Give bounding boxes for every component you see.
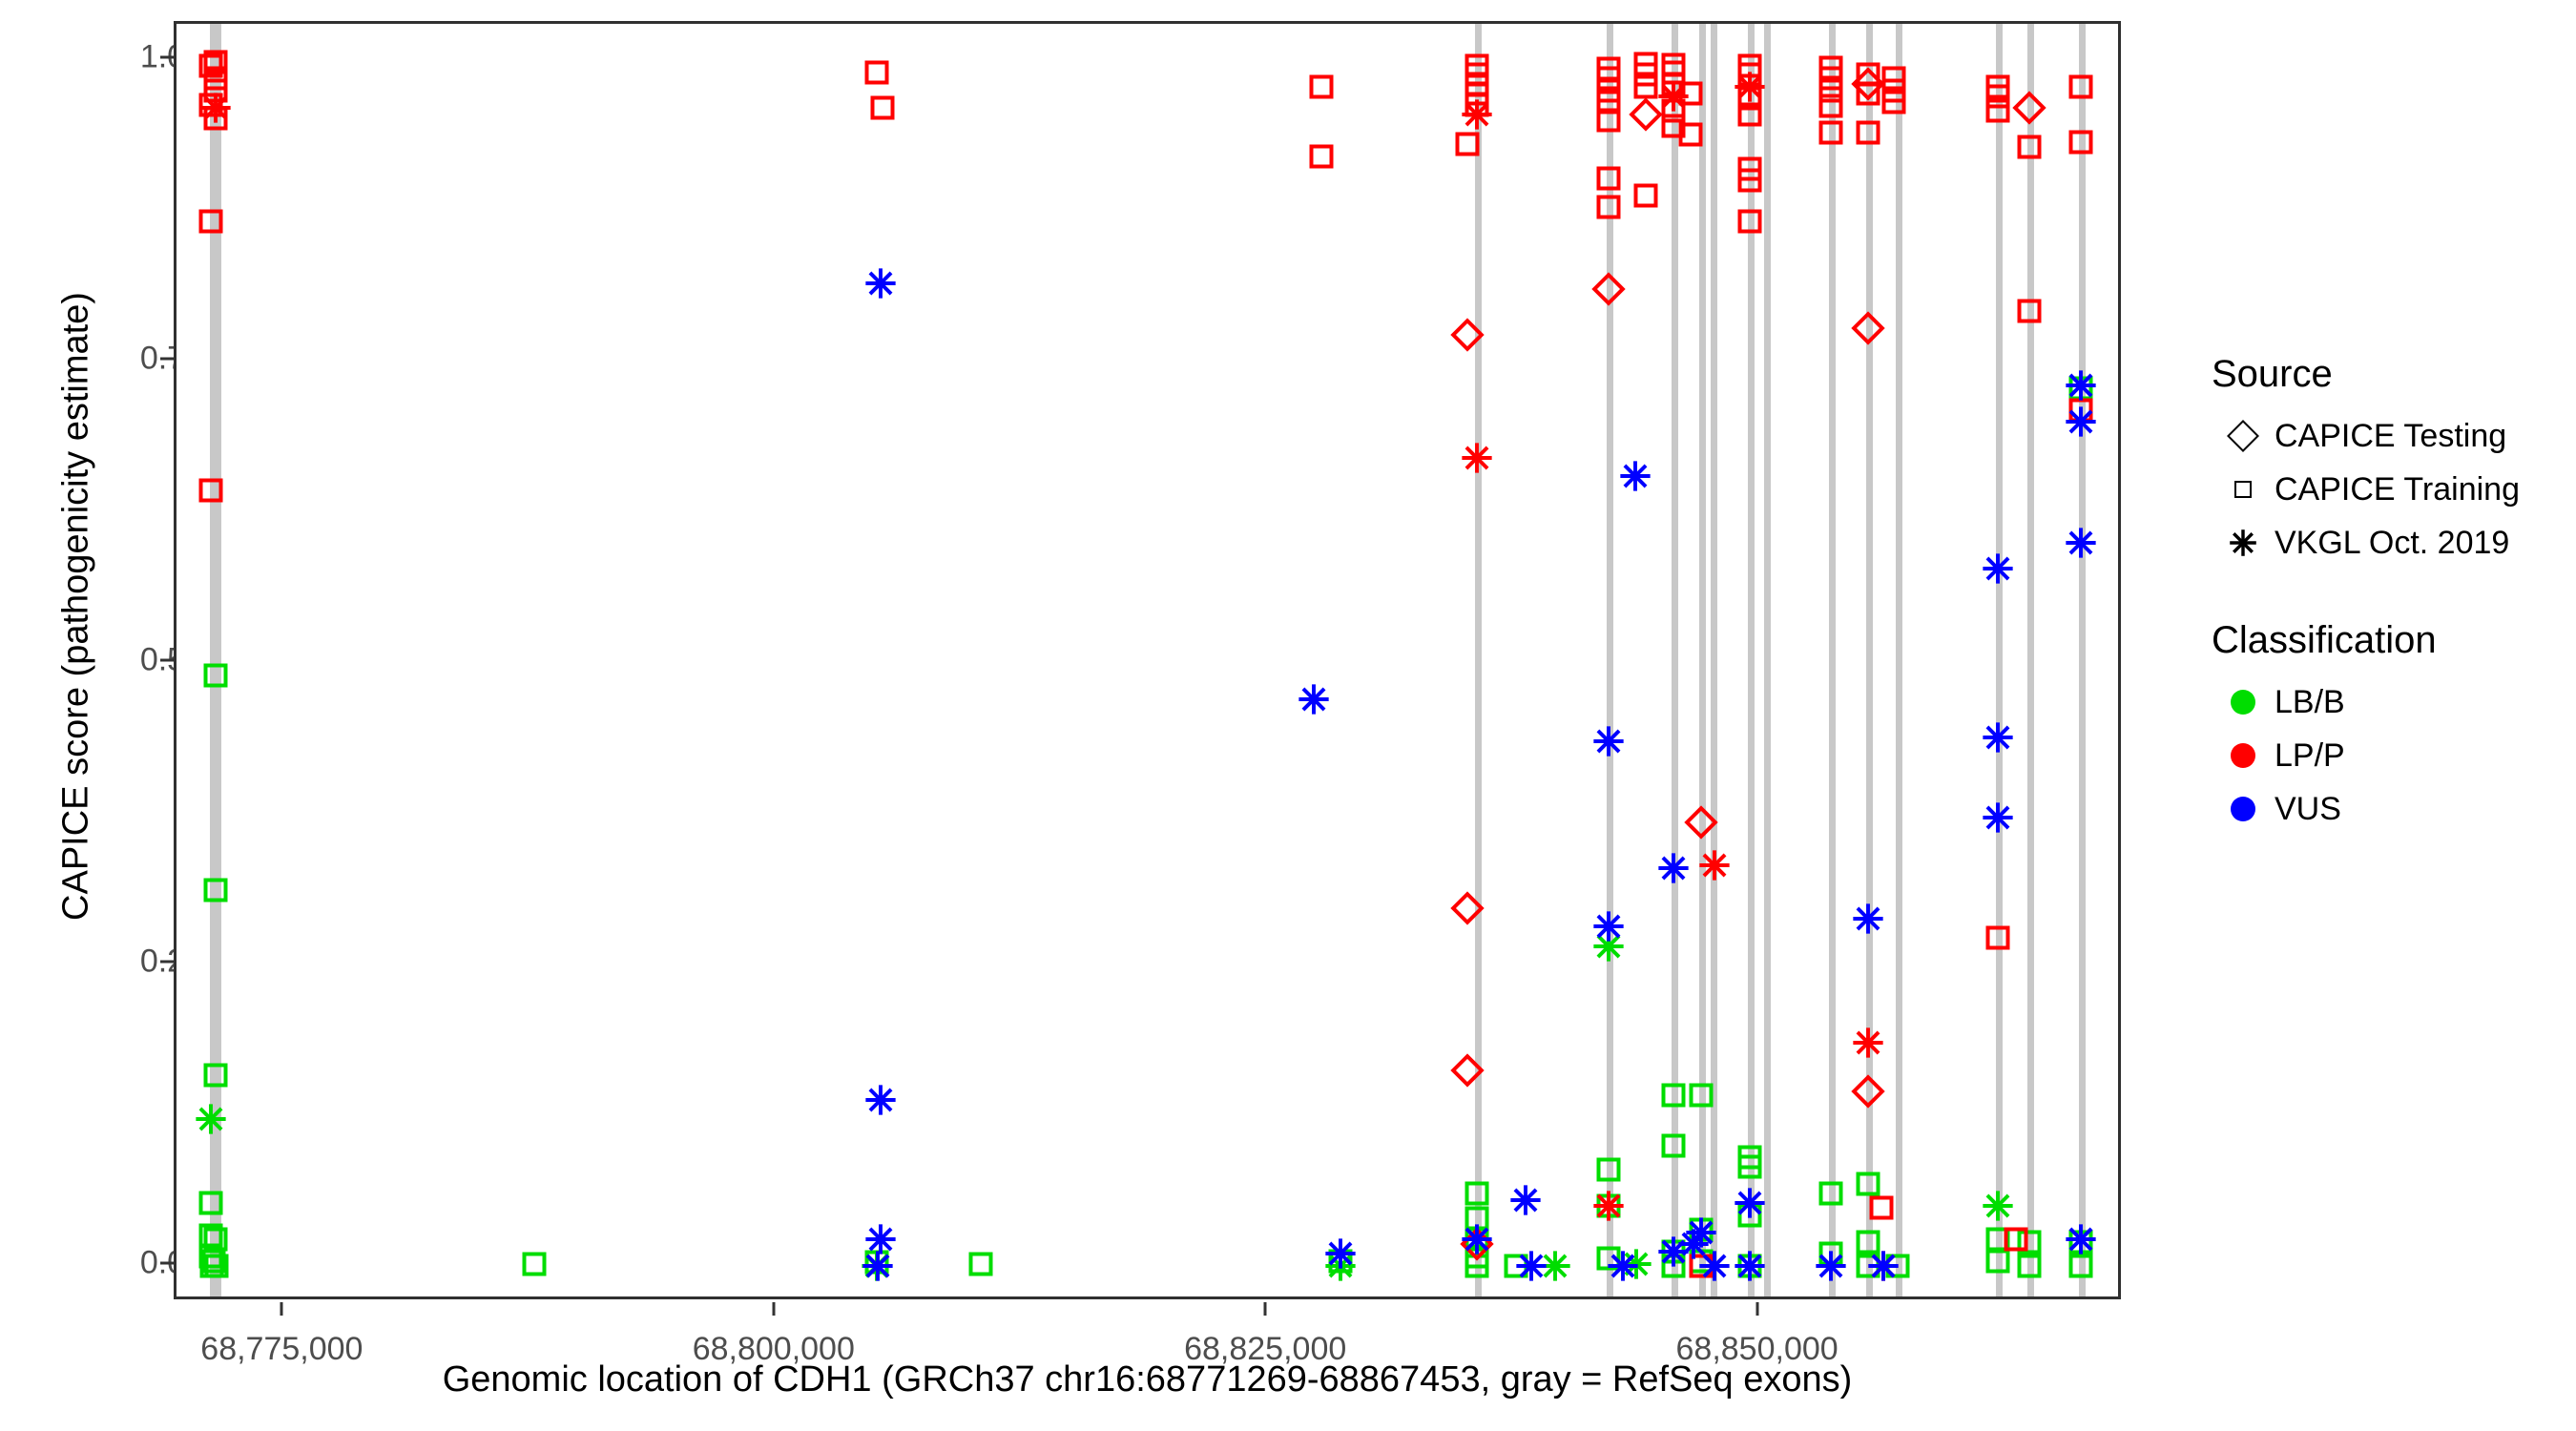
legend-item-label: LB/B (2275, 684, 2345, 721)
y-tick-mark (160, 1262, 174, 1265)
color-dot-icon (2231, 690, 2255, 715)
data-point (1596, 109, 1620, 133)
data-point (2068, 74, 2092, 98)
asterisk-icon (2229, 529, 2257, 557)
data-point (1596, 166, 1620, 190)
data-point (1596, 1157, 1620, 1181)
data-point (199, 479, 223, 503)
legend-item-label: CAPICE Training (2275, 471, 2520, 508)
exon-bar (1475, 24, 1482, 1296)
data-point (2065, 527, 2097, 559)
data-point (1818, 93, 1842, 117)
legend-item-label: CAPICE Testing (2275, 418, 2506, 455)
data-point (1461, 1223, 1493, 1255)
data-point (1661, 1133, 1685, 1157)
data-point (2065, 1223, 2097, 1255)
data-point (1661, 1083, 1685, 1107)
data-point (1324, 1237, 1357, 1270)
y-tick-mark (160, 961, 174, 964)
data-point (195, 1103, 227, 1135)
data-point (1815, 1250, 1847, 1282)
data-point (1515, 1250, 1548, 1282)
data-point (1982, 1190, 2014, 1222)
legend-source-item-row[interactable]: VKGL Oct. 2019 (2212, 516, 2565, 570)
data-point (204, 106, 228, 130)
data-point (2004, 1228, 2027, 1252)
data-point (199, 210, 223, 234)
data-point (2018, 299, 2042, 322)
diamond-icon (2227, 420, 2259, 452)
data-point (1461, 98, 1493, 131)
data-point (1856, 1172, 1880, 1196)
legend-source-item-row[interactable]: CAPICE Testing (2212, 409, 2565, 463)
data-point (2068, 130, 2092, 154)
data-point (1986, 1250, 2010, 1274)
data-point (1634, 183, 1658, 207)
legend-item-label: LP/P (2275, 737, 2345, 775)
legend-group-classification: Classification LB/BLP/PVUS (2212, 619, 2565, 836)
y-axis-title: CAPICE score (pathogenicity estimate) (56, 0, 97, 1227)
exon-bar (2079, 24, 2086, 1296)
data-point (2018, 135, 2042, 158)
legend-classification-item-row[interactable]: VUS (2212, 782, 2565, 836)
legend-item-label: VKGL Oct. 2019 (2275, 525, 2509, 562)
y-tick-mark (160, 659, 174, 662)
legend-key-dot (2212, 675, 2275, 729)
data-point (1596, 196, 1620, 219)
data-point (204, 1255, 228, 1278)
legend-source-item-row[interactable]: CAPICE Training (2212, 463, 2565, 516)
data-point (1634, 74, 1658, 98)
data-point (1689, 1083, 1713, 1107)
color-dot-icon (2231, 743, 2255, 768)
data-point (1982, 552, 2014, 585)
data-point (1867, 1250, 1900, 1282)
legend-title-classification: Classification (2212, 619, 2565, 662)
square-icon (2234, 481, 2252, 498)
exon-bar (1764, 24, 1771, 1296)
legend-items-classification: LB/BLP/PVUS (2212, 675, 2565, 836)
data-point (2068, 1255, 2092, 1278)
data-point (1986, 926, 2010, 950)
data-point (1738, 210, 1762, 234)
data-point (1986, 99, 2010, 123)
data-point (2065, 405, 2097, 438)
legend-key-dot (2212, 729, 2275, 782)
data-point (1856, 120, 1880, 144)
data-point (204, 663, 228, 687)
data-point (1592, 910, 1625, 943)
data-point (1679, 82, 1703, 106)
exon-bar (1829, 24, 1836, 1296)
data-point (2012, 92, 2046, 125)
legend-key-square (2212, 463, 2275, 516)
data-point (862, 1250, 894, 1282)
data-point (1851, 311, 1884, 344)
data-point (1738, 102, 1762, 126)
data-point (1657, 852, 1690, 884)
plot-panel (174, 21, 2121, 1299)
data-point (1607, 1250, 1639, 1282)
legend-key-dot (2212, 782, 2275, 836)
exon-bar (2027, 24, 2034, 1296)
data-point (1456, 133, 1480, 156)
data-point (1982, 721, 2014, 754)
legend-classification-item-row[interactable]: LB/B (2212, 675, 2565, 729)
data-point (1592, 1190, 1625, 1222)
data-point (1818, 1182, 1842, 1206)
data-point (1619, 460, 1652, 492)
x-tick-mark (1755, 1302, 1758, 1316)
data-point (1852, 902, 1884, 935)
legend-key-asterisk (2212, 516, 2275, 570)
data-point (1309, 74, 1333, 98)
data-point (1738, 1155, 1762, 1179)
data-point (1870, 1196, 1894, 1220)
data-point (1591, 272, 1625, 305)
data-point (1592, 725, 1625, 757)
legend-classification-item-row[interactable]: LP/P (2212, 729, 2565, 782)
data-point (1738, 169, 1762, 193)
data-point (199, 1192, 223, 1215)
x-axis-title: Genomic location of CDH1 (GRCh37 chr16:6… (174, 1359, 2121, 1400)
data-point (1698, 1250, 1731, 1282)
data-point (969, 1252, 993, 1275)
exon-bar (1896, 24, 1902, 1296)
legend-key-diamond (2212, 409, 2275, 463)
data-point (1465, 1182, 1488, 1206)
data-point (2065, 369, 2097, 402)
data-point (1851, 1074, 1884, 1108)
exon-bar (1996, 24, 2003, 1296)
data-point (1881, 91, 1905, 114)
x-tick-mark (280, 1302, 283, 1316)
y-tick-mark (160, 55, 174, 58)
data-point (204, 878, 228, 902)
data-point (1856, 82, 1880, 106)
data-point (1698, 849, 1731, 881)
legend-item-label: VUS (2275, 791, 2341, 828)
chart-root: CAPICE score (pathogenicity estimate) 0.… (0, 0, 2576, 1431)
x-tick-mark (772, 1302, 775, 1316)
legend: Source CAPICE TestingCAPICE TrainingVKGL… (2212, 353, 2565, 885)
data-point (204, 1064, 228, 1088)
legend-group-source: Source CAPICE TestingCAPICE TrainingVKGL… (2212, 353, 2565, 570)
data-point (1298, 683, 1330, 715)
data-point (871, 96, 895, 120)
data-point (1509, 1184, 1542, 1216)
data-point (2018, 1255, 2042, 1278)
data-point (1982, 801, 2014, 834)
data-point (1461, 442, 1493, 474)
data-point (1685, 1216, 1717, 1249)
x-tick-mark (1264, 1302, 1267, 1316)
data-point (1818, 120, 1842, 144)
color-dot-icon (2231, 797, 2255, 821)
data-point (1734, 1250, 1766, 1282)
data-point (1309, 145, 1333, 169)
legend-title-source: Source (2212, 353, 2565, 396)
data-point (864, 1084, 897, 1116)
data-point (864, 60, 888, 84)
data-point (864, 267, 897, 300)
legend-items-source: CAPICE TestingCAPICE TrainingVKGL Oct. 2… (2212, 409, 2565, 570)
data-point (1679, 123, 1703, 147)
data-point (1734, 1187, 1766, 1219)
plot-area (177, 24, 2118, 1296)
data-point (523, 1252, 547, 1275)
y-tick-mark (160, 357, 174, 360)
data-point (1852, 1027, 1884, 1059)
